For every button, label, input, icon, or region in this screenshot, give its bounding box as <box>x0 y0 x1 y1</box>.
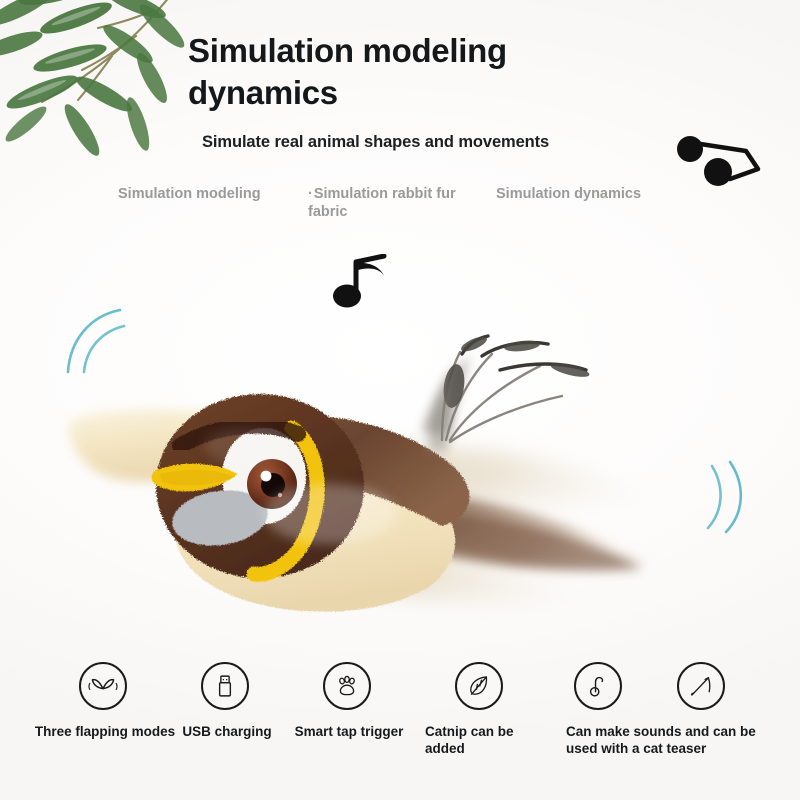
product-marketing-image: Simulation modeling dynamics Simulate re… <box>0 0 800 800</box>
tag-label: Simulation modeling <box>118 186 261 202</box>
double-music-note-icon <box>672 129 764 191</box>
feature-tag: ·Simulation rabbit fur fabric <box>308 186 486 221</box>
leaf-icon <box>455 662 503 710</box>
feather-tail <box>422 334 591 452</box>
page-subtitle: Simulate real animal shapes and movement… <box>202 133 549 152</box>
feature-item-smart-tap[interactable]: Smart tap trigger <box>323 662 371 710</box>
feature-tag: Simulation dynamics <box>496 186 696 204</box>
feature-item-usb-charging[interactable]: USB charging <box>201 662 249 710</box>
feature-label: USB charging <box>165 724 289 741</box>
cat-teaser-wand-icon <box>677 662 725 710</box>
feature-icon-strip: Three flapping modes USB charging <box>0 662 800 787</box>
tag-label: Simulation rabbit fur fabric <box>308 186 456 220</box>
page-title: Simulation modeling dynamics <box>188 30 608 114</box>
motion-arcs-right-icon <box>698 458 762 534</box>
eighth-music-note-icon <box>330 254 392 310</box>
flapping-bird-cat-toy-image <box>30 300 750 630</box>
paw-print-icon <box>323 662 371 710</box>
flapping-wings-icon <box>79 662 127 710</box>
feature-label: Smart tap trigger <box>278 724 420 741</box>
feature-item-cat-teaser[interactable] <box>677 662 725 710</box>
feature-tag-row: Simulation modeling ·Simulation rabbit f… <box>118 186 718 234</box>
feature-item-flapping-modes[interactable]: Three flapping modes <box>79 662 127 710</box>
tag-label: Simulation dynamics <box>496 186 641 202</box>
feature-label: Can make sounds and can be used with a c… <box>566 724 776 758</box>
feature-label: Catnip can be added <box>425 724 545 758</box>
usb-connector-icon <box>201 662 249 710</box>
motion-arcs-left-icon <box>62 306 134 378</box>
feature-item-catnip[interactable]: Catnip can be added <box>455 662 503 710</box>
feature-tag: Simulation modeling <box>118 186 308 204</box>
feature-item-sounds[interactable]: Can make sounds and can be used with a c… <box>574 662 622 710</box>
feature-label: Three flapping modes <box>25 724 185 741</box>
music-note-icon <box>574 662 622 710</box>
